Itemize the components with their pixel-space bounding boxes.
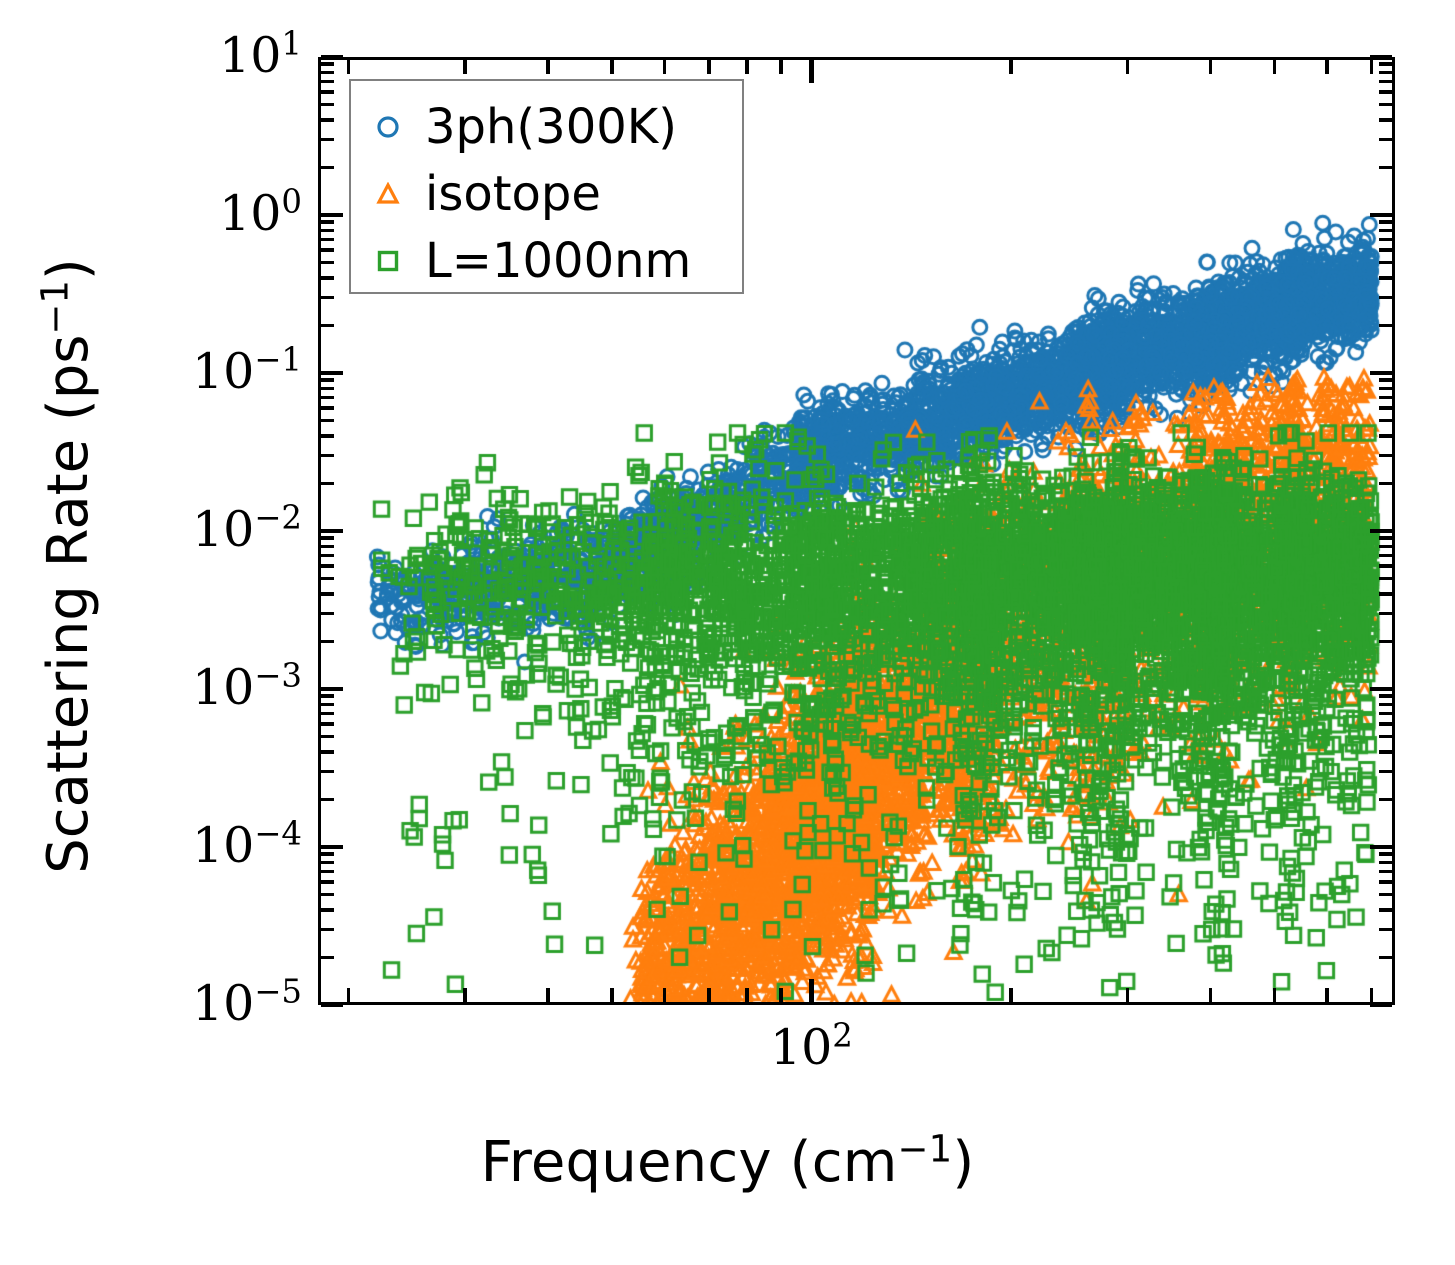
- y-minor-tick-right: [1379, 387, 1392, 391]
- legend-label: L=1000nm: [425, 237, 691, 285]
- y-minor-tick: [321, 612, 334, 616]
- y-minor-tick: [321, 852, 334, 856]
- y-minor-tick: [321, 248, 334, 252]
- y-minor-tick: [321, 276, 334, 280]
- x-minor-tick: [546, 988, 550, 1002]
- legend-marker-circle-open-icon: [351, 115, 425, 139]
- y-minor-tick-right: [1379, 90, 1392, 94]
- y-tick-label: 10−2: [192, 505, 302, 554]
- y-minor-tick: [321, 238, 334, 242]
- y-major-tick: [321, 845, 343, 849]
- y-minor-tick: [321, 261, 334, 265]
- y-axis-title-exponent: −1: [33, 280, 76, 334]
- y-minor-tick-right: [1379, 852, 1392, 856]
- y-minor-tick-right: [1379, 238, 1392, 242]
- y-tick-label: 10−1: [192, 347, 302, 396]
- y-minor-tick: [321, 166, 334, 170]
- y-minor-tick: [321, 296, 334, 300]
- y-minor-tick-right: [1379, 908, 1392, 912]
- y-major-tick: [321, 529, 343, 533]
- x-minor-tick-top: [1370, 60, 1374, 74]
- legend-label: 3ph(300K): [425, 103, 677, 151]
- x-minor-tick-top: [707, 60, 711, 74]
- y-tick-label: 10−4: [192, 821, 302, 870]
- y-tick-label: 101: [219, 31, 302, 80]
- y-minor-tick-right: [1379, 722, 1392, 726]
- y-minor-tick: [321, 62, 334, 66]
- x-minor-tick: [779, 988, 783, 1002]
- y-minor-tick-right: [1379, 248, 1392, 252]
- y-minor-tick: [321, 118, 334, 122]
- y-minor-tick-right: [1379, 229, 1392, 233]
- x-minor-tick: [1209, 988, 1213, 1002]
- legend-item-isotope[interactable]: isotope: [351, 160, 742, 227]
- x-minor-tick: [1370, 988, 1374, 1002]
- y-minor-tick-right: [1379, 220, 1392, 224]
- y-minor-tick: [321, 703, 334, 707]
- x-minor-tick: [663, 988, 667, 1002]
- y-minor-tick: [321, 138, 334, 142]
- y-major-tick-right: [1370, 845, 1392, 849]
- x-minor-tick-top: [663, 60, 667, 74]
- y-minor-tick-right: [1379, 419, 1392, 423]
- y-minor-tick: [321, 545, 334, 549]
- y-minor-tick-right: [1379, 406, 1392, 410]
- y-minor-tick-right: [1379, 798, 1392, 802]
- y-minor-tick: [321, 640, 334, 644]
- y-minor-tick: [321, 564, 334, 568]
- y-minor-tick-right: [1379, 434, 1392, 438]
- y-minor-tick-right: [1379, 378, 1392, 382]
- x-minor-tick: [347, 988, 351, 1002]
- y-minor-tick-right: [1379, 735, 1392, 739]
- y-minor-tick-right: [1379, 956, 1392, 960]
- y-major-tick: [321, 1003, 343, 1007]
- legend-marker-triangle-open-icon: [351, 182, 425, 206]
- y-minor-tick: [321, 928, 334, 932]
- y-minor-tick-right: [1379, 545, 1392, 549]
- x-major-tick: [809, 979, 813, 1002]
- y-minor-tick: [321, 880, 334, 884]
- x-minor-tick-top: [1209, 60, 1213, 74]
- y-major-tick: [321, 687, 343, 691]
- x-minor-tick: [1273, 988, 1277, 1002]
- x-minor-tick: [1325, 988, 1329, 1002]
- y-major-tick-right: [1370, 1003, 1392, 1007]
- y-minor-tick: [321, 536, 334, 540]
- y-minor-tick: [321, 80, 334, 84]
- y-minor-tick: [321, 577, 334, 581]
- y-minor-tick-right: [1379, 536, 1392, 540]
- y-minor-tick-right: [1379, 138, 1392, 142]
- y-major-tick-right: [1370, 55, 1392, 59]
- legend-item-3ph-300k[interactable]: 3ph(300K): [351, 93, 742, 160]
- y-minor-tick: [321, 220, 334, 224]
- y-minor-tick-right: [1379, 712, 1392, 716]
- legend-box[interactable]: 3ph(300K)isotopeL=1000nm: [349, 79, 744, 294]
- y-minor-tick: [321, 406, 334, 410]
- y-minor-tick-right: [1379, 880, 1392, 884]
- x-minor-tick: [707, 988, 711, 1002]
- y-tick-label: 100: [219, 189, 302, 238]
- y-minor-tick: [321, 229, 334, 233]
- y-minor-tick-right: [1379, 80, 1392, 84]
- y-minor-tick-right: [1379, 276, 1392, 280]
- y-minor-tick: [321, 592, 334, 596]
- y-minor-tick: [321, 396, 334, 400]
- y-minor-tick: [321, 798, 334, 802]
- y-minor-tick-right: [1379, 554, 1392, 558]
- y-minor-tick: [321, 893, 334, 897]
- y-minor-tick-right: [1379, 592, 1392, 596]
- y-minor-tick: [321, 482, 334, 486]
- y-minor-tick: [321, 454, 334, 458]
- y-axis-title-tail: ): [36, 258, 101, 280]
- x-minor-tick-top: [610, 60, 614, 74]
- y-minor-tick-right: [1379, 577, 1392, 581]
- y-minor-tick-right: [1379, 928, 1392, 932]
- legend-marker-square-open-icon: [351, 249, 425, 273]
- y-minor-tick: [321, 71, 334, 75]
- x-axis-title-text: Frequency (cm: [481, 1130, 898, 1195]
- y-minor-tick-right: [1379, 694, 1392, 698]
- x-minor-tick-top: [347, 60, 351, 74]
- y-minor-tick-right: [1379, 564, 1392, 568]
- y-minor-tick-right: [1379, 103, 1392, 107]
- y-minor-tick-right: [1379, 861, 1392, 865]
- y-minor-tick: [321, 419, 334, 423]
- x-minor-tick-top: [546, 60, 550, 74]
- y-minor-tick-right: [1379, 482, 1392, 486]
- y-minor-tick-right: [1379, 396, 1392, 400]
- x-minor-tick: [745, 988, 749, 1002]
- x-axis-title-tail: ): [952, 1130, 974, 1195]
- y-minor-tick-right: [1379, 893, 1392, 897]
- x-minor-tick-top: [779, 60, 783, 74]
- y-axis-title-text: Scattering Rate (ps: [36, 335, 101, 874]
- x-minor-tick-top: [1009, 60, 1013, 74]
- x-tick-label: 102: [749, 1023, 873, 1072]
- y-major-tick: [321, 371, 343, 375]
- y-minor-tick: [321, 324, 334, 328]
- y-minor-tick: [321, 722, 334, 726]
- y-minor-tick: [321, 694, 334, 698]
- y-minor-tick: [321, 434, 334, 438]
- y-minor-tick: [321, 712, 334, 716]
- legend-label: isotope: [425, 170, 601, 218]
- y-minor-tick-right: [1379, 750, 1392, 754]
- y-minor-tick: [321, 870, 334, 874]
- y-axis-title: Scattering Rate (ps−1): [36, 92, 106, 1040]
- x-minor-tick: [1126, 988, 1130, 1002]
- y-major-tick-right: [1370, 371, 1392, 375]
- y-major-tick-right: [1370, 213, 1392, 217]
- x-minor-tick: [1009, 988, 1013, 1002]
- y-major-tick-right: [1370, 529, 1392, 533]
- y-minor-tick-right: [1379, 770, 1392, 774]
- y-minor-tick-right: [1379, 640, 1392, 644]
- x-minor-tick-top: [463, 60, 467, 74]
- y-major-tick: [321, 213, 343, 217]
- x-minor-tick-top: [1325, 60, 1329, 74]
- legend-item-l-1000nm[interactable]: L=1000nm: [351, 227, 742, 294]
- y-minor-tick: [321, 770, 334, 774]
- y-tick-label: 10−3: [192, 663, 302, 712]
- y-major-tick: [321, 55, 343, 59]
- x-minor-tick-top: [745, 60, 749, 74]
- y-minor-tick: [321, 861, 334, 865]
- y-minor-tick: [321, 90, 334, 94]
- figure-canvas: Scattering Rate (ps−1) 10−510−410−310−21…: [0, 0, 1455, 1265]
- y-minor-tick-right: [1379, 454, 1392, 458]
- x-minor-tick: [610, 988, 614, 1002]
- y-minor-tick-right: [1379, 71, 1392, 75]
- y-minor-tick-right: [1379, 703, 1392, 707]
- y-minor-tick: [321, 378, 334, 382]
- y-minor-tick: [321, 908, 334, 912]
- y-minor-tick: [321, 103, 334, 107]
- x-major-tick-top: [809, 60, 813, 83]
- y-major-tick-right: [1370, 687, 1392, 691]
- y-minor-tick: [321, 735, 334, 739]
- y-tick-label: 10−5: [192, 979, 302, 1028]
- y-minor-tick-right: [1379, 62, 1392, 66]
- y-minor-tick: [321, 956, 334, 960]
- x-minor-tick-top: [1273, 60, 1277, 74]
- y-minor-tick-right: [1379, 324, 1392, 328]
- y-minor-tick: [321, 750, 334, 754]
- y-minor-tick: [321, 387, 334, 391]
- y-minor-tick-right: [1379, 118, 1392, 122]
- y-minor-tick-right: [1379, 261, 1392, 265]
- y-minor-tick-right: [1379, 166, 1392, 170]
- x-minor-tick-top: [1126, 60, 1130, 74]
- x-axis-title-exponent: −1: [897, 1127, 952, 1170]
- y-minor-tick-right: [1379, 296, 1392, 300]
- x-axis-title: Frequency (cm−1): [0, 1130, 1455, 1195]
- x-minor-tick: [463, 988, 467, 1002]
- y-minor-tick-right: [1379, 612, 1392, 616]
- y-minor-tick-right: [1379, 870, 1392, 874]
- y-minor-tick: [321, 554, 334, 558]
